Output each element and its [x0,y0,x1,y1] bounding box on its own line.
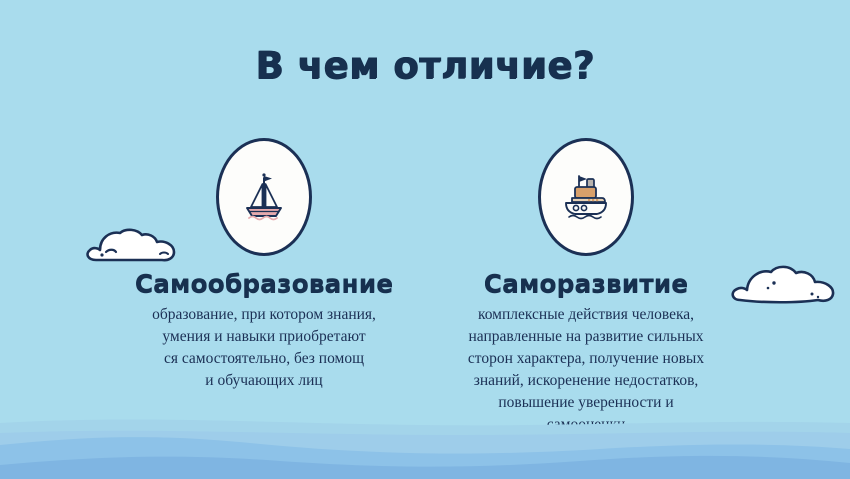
page-title: В чем отличие? [0,44,850,87]
sailboat-icon [216,138,312,256]
column-body: образование, при котором знания, умения … [119,304,409,392]
column-heading: Самообразование [135,270,393,298]
column-heading: Саморазвитие [484,270,688,298]
body-line: комплексные действия человека, [441,304,731,326]
body-line: образование, при котором знания, [119,304,409,326]
column-samoobrazovanie: Самообразование образование, при котором… [114,138,414,392]
body-line: умения и навыки приобретают [119,326,409,348]
wave-band-decoration [0,409,850,479]
body-line: знаний, искоренение недостатков, [441,370,731,392]
column-samorazvitie: Саморазвитие комплексные действия челове… [436,138,736,436]
body-line: направленные на развитие сильных [441,326,731,348]
body-line: и обучающих лиц [119,370,409,392]
comparison-columns: Самообразование образование, при котором… [0,138,850,436]
body-line: ся самостоятельно, без помощ [119,348,409,370]
steamboat-icon [538,138,634,256]
body-line: сторон характера, получение новых [441,348,731,370]
slide-canvas: В чем отличие? [0,0,850,479]
